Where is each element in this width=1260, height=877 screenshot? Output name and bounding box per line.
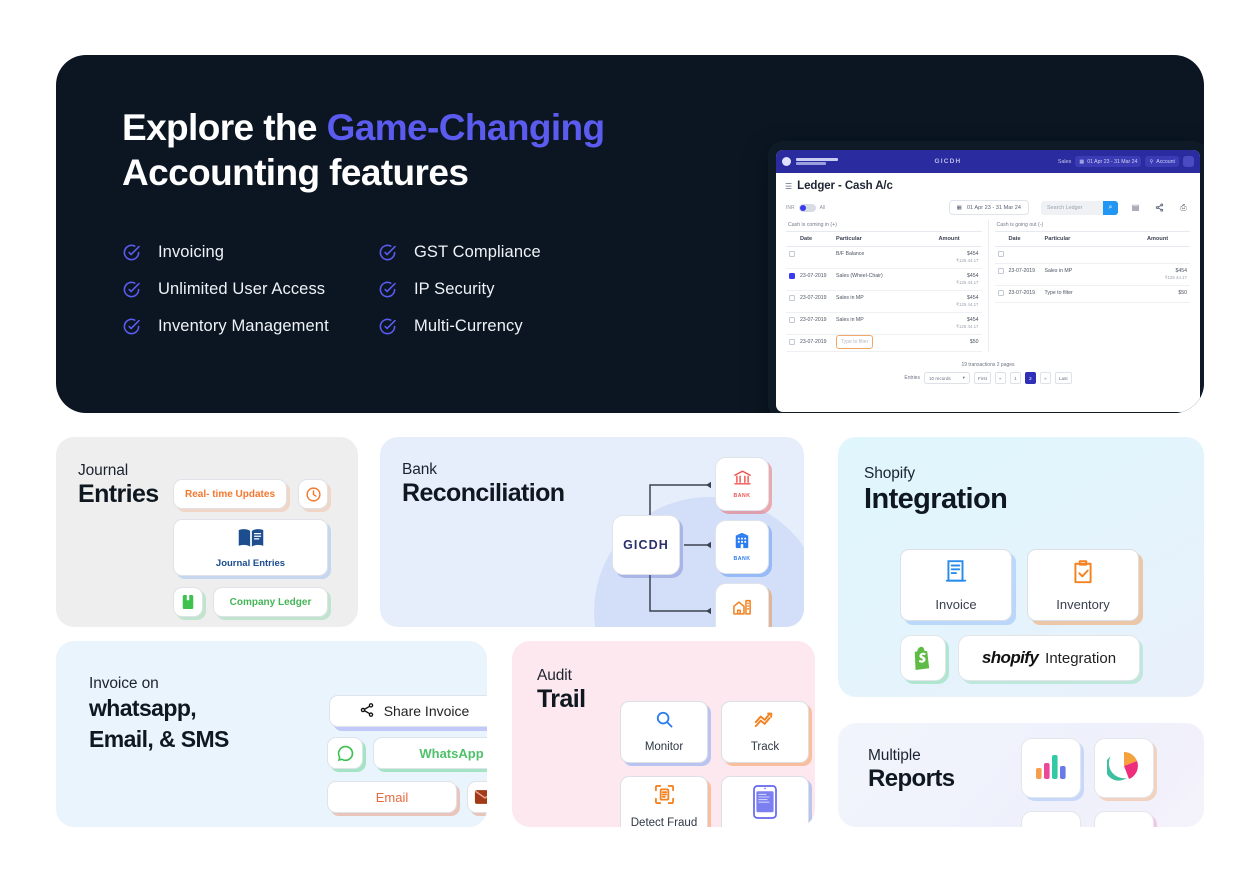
cell-amount: $454₹125 44.17: [936, 269, 982, 291]
navbar-account-text: Account: [1156, 159, 1175, 165]
shopify-title: Integration: [864, 483, 1007, 516]
cell-particular: [1042, 247, 1145, 264]
bank-classic-icon: [733, 469, 752, 491]
table-row[interactable]: 23-07-2019 Sales in MP $454₹125 44.17: [786, 313, 982, 335]
app-navbar: GICDH Sales ▦ 01 Apr 23 - 31 Mar 24 ⚲ Ac…: [776, 150, 1200, 173]
app-logo-icon: [782, 157, 791, 166]
trend-lines-icon: [754, 710, 776, 734]
gicdh-wordmark: GICDH: [623, 538, 669, 552]
feature-item-inventory-management: Inventory Management: [122, 317, 378, 336]
navbar-account-chip[interactable]: ⚲ Account: [1145, 156, 1179, 167]
cash-in-caption: Cash is coming in (+): [786, 220, 982, 231]
bank-node-tag: BANK: [734, 556, 751, 562]
row-checkbox-cell[interactable]: [995, 247, 1006, 264]
toggle-left-label: INR: [786, 205, 795, 211]
row-checkbox-cell[interactable]: [995, 264, 1006, 286]
app-brand: [796, 158, 838, 164]
cell-date: 23-07-2019: [1006, 286, 1042, 303]
navbar-date-chip[interactable]: ▦ 01 Apr 23 - 31 Mar 24: [1075, 156, 1141, 167]
laptop-mockup: GICDH Sales ▦ 01 Apr 23 - 31 Mar 24 ⚲ Ac…: [654, 73, 1204, 413]
select-all-header: [786, 232, 797, 247]
email-button[interactable]: Email: [327, 781, 457, 813]
mobile-tile[interactable]: [721, 776, 809, 827]
whatsapp-label: WhatsApp: [419, 746, 483, 761]
inventory-tile[interactable]: Inventory: [1027, 549, 1139, 621]
row-checkbox-cell[interactable]: [995, 286, 1006, 303]
journal-kicker: Journal: [78, 462, 159, 480]
page-button-1[interactable]: 1: [1010, 372, 1021, 384]
detect-fraud-label: Detect Fraud: [631, 816, 697, 827]
page-button-2-active[interactable]: 2: [1025, 372, 1036, 384]
card-bank-reconciliation: Bank Reconciliation GICDH BANK: [380, 437, 804, 627]
date-range-picker[interactable]: ▦ 01 Apr 23 - 31 Mar 24: [949, 200, 1029, 215]
grid-menu-icon[interactable]: [1183, 156, 1194, 167]
column-header-amount: Amount: [936, 232, 982, 247]
checkbox-icon[interactable]: [998, 251, 1004, 257]
whatsapp-button[interactable]: WhatsApp: [373, 737, 487, 769]
bank-building-icon: [733, 532, 751, 554]
feature-label: Inventory Management: [158, 317, 329, 336]
share-invoice-button[interactable]: Share Invoice: [329, 695, 487, 727]
cash-out-column: Cash is going out (-) Date Particular Am…: [995, 220, 1191, 352]
shopify-tile-row: Invoice Inventory: [900, 549, 1139, 621]
whatsapp-title-line2: Email, & SMS: [89, 724, 229, 755]
audit-text-block: Audit Trail: [537, 667, 585, 714]
table-row[interactable]: [995, 247, 1191, 264]
gicdh-hub-node[interactable]: GICDH: [612, 515, 680, 575]
journal-text-block: Journal Entries: [78, 462, 159, 509]
feature-item-unlimited-user-access: Unlimited User Access: [122, 280, 378, 299]
cash-out-table: Date Particular Amount: [995, 231, 1191, 303]
amount-value: $454: [967, 251, 979, 257]
chevron-down-icon: ▾: [963, 375, 965, 381]
entries-label: Entries: [904, 375, 920, 381]
entries-select[interactable]: 10 records▾: [924, 372, 970, 384]
column-divider: [988, 220, 989, 352]
feature-label: Unlimited User Access: [158, 280, 325, 299]
page-button-last[interactable]: Last: [1055, 372, 1072, 384]
pie-chart-tile[interactable]: [1094, 738, 1154, 798]
shopify-text-block: Shopify Integration: [864, 465, 1007, 516]
mobile-phone-icon: [752, 785, 778, 824]
feature-label: GST Compliance: [414, 243, 541, 262]
checkbox-icon[interactable]: [998, 290, 1004, 296]
checkbox-icon[interactable]: [789, 251, 795, 257]
pagination: 19 transactions 2 pages Entries 10 recor…: [776, 352, 1200, 384]
shopify-wordmark: shopify: [982, 648, 1038, 668]
page-title: Explore the Game-Changing Accounting fea…: [122, 105, 682, 195]
card-shopify-integration: Shopify Integration Invoice Inventory: [838, 437, 1204, 697]
journal-entries-label: Journal Entries: [216, 558, 285, 569]
app-toolbar: INR All ▦ 01 Apr 23 - 31 Mar 24 Search L…: [776, 196, 1200, 220]
hero-title-part2: Accounting features: [122, 152, 468, 193]
check-circle-icon: [122, 243, 141, 262]
page-button-prev[interactable]: «: [995, 372, 1006, 384]
page-root: Explore the Game-Changing Accounting fea…: [0, 0, 1260, 877]
amount-value: $454: [967, 295, 979, 301]
cash-in-table: Date Particular Amount B/F Balance: [786, 231, 982, 352]
check-circle-icon: [378, 317, 397, 336]
cell-particular: Sales in MP: [833, 313, 936, 335]
cell-date: 23-07-2019: [797, 313, 833, 335]
cell-particular: Sales in MP: [1042, 264, 1145, 286]
check-circle-icon: [378, 243, 397, 262]
whatsapp-text-block: Invoice on whatsapp, Email, & SMS: [89, 675, 229, 754]
cell-date: 23-07-2019: [797, 291, 833, 313]
cell-date: [797, 247, 833, 269]
cell-amount: $50: [1144, 286, 1190, 303]
bank-title: Reconciliation: [402, 479, 564, 508]
feature-item-gst-compliance: GST Compliance: [378, 243, 682, 262]
checkbox-icon[interactable]: [789, 339, 795, 345]
cell-particular: B/F Balance: [833, 247, 936, 269]
realtime-updates-pill[interactable]: Real- time Updates: [173, 479, 287, 509]
check-circle-icon: [122, 317, 141, 336]
share-icon[interactable]: [1153, 201, 1166, 214]
monitor-tile[interactable]: Monitor: [620, 701, 708, 763]
share-icon: [359, 702, 375, 721]
ledger-columns: Cash is coming in (+) Date Particular Am…: [776, 220, 1200, 352]
table-row-editing[interactable]: 23-07-2019 Type to filter $50: [786, 335, 982, 352]
ledger-search[interactable]: Search Ledger ⌕: [1041, 201, 1118, 215]
table-row[interactable]: 23-07-2019 Sales in MP $454₹125 44.17: [995, 264, 1191, 286]
app-page-header: ☰ Ledger - Cash A/c: [776, 173, 1200, 196]
currency-toggle[interactable]: INR All: [786, 204, 825, 212]
table-header-row: Date Particular Amount: [786, 232, 982, 247]
column-header-particular: Particular: [1042, 232, 1145, 247]
shopify-integration-bar[interactable]: shopify Integration: [958, 635, 1140, 681]
select-all-header: [995, 232, 1006, 247]
app-page-title: Ledger - Cash A/c: [797, 180, 893, 192]
bar-chart-icon: [1034, 751, 1068, 786]
amount-value: $454: [967, 273, 979, 279]
row-checkbox-cell[interactable]: [786, 291, 797, 313]
hero-feature-list: Invoicing GST Compliance Unlimited User …: [122, 243, 682, 336]
save-icon[interactable]: ▤: [1129, 201, 1142, 214]
company-ledger-label: Company Ledger: [230, 597, 312, 608]
cell-particular: Sales in MP: [833, 291, 936, 313]
cell-date: 23-07-2019: [1006, 264, 1042, 286]
column-header-particular: Particular: [833, 232, 936, 247]
search-input[interactable]: Search Ledger: [1041, 201, 1103, 215]
detect-fraud-tile[interactable]: Detect Fraud: [620, 776, 708, 827]
whatsapp-kicker: Invoice on: [89, 675, 229, 693]
card-journal-entries: Journal Entries Real- time Updates Journ…: [56, 437, 358, 627]
amount-value: $454: [1175, 268, 1187, 274]
cell-amount: [1144, 247, 1190, 264]
column-header-amount: Amount: [1144, 232, 1190, 247]
amount-sub: ₹125 44.17: [1147, 275, 1187, 281]
cell-amount: $50: [936, 335, 982, 352]
share-invoice-label: Share Invoice: [384, 703, 470, 719]
table-row[interactable]: 23-07-2019 Sales in MP $454₹125 44.17: [786, 291, 982, 313]
table-row[interactable]: 23-07-2019 Sales (Wheel-Chair) $454₹125 …: [786, 269, 982, 291]
book-icon[interactable]: [173, 587, 203, 617]
reports-text-block: Multiple Reports: [868, 747, 954, 792]
reports-tile-row-2: [1021, 811, 1154, 827]
feature-label: Multi-Currency: [414, 317, 523, 336]
audit-title: Trail: [537, 685, 585, 714]
navbar-sales-label[interactable]: Sales: [1058, 159, 1072, 165]
date-range-text: 01 Apr 23 - 31 Mar 24: [967, 205, 1021, 211]
checkbox-icon-checked[interactable]: [789, 273, 795, 279]
realtime-updates-label: Real- time Updates: [185, 489, 275, 500]
cell-particular: Sales (Wheel-Chair): [833, 269, 936, 291]
audit-tile-grid: Monitor Track Detect Fraud: [620, 701, 809, 827]
cell-date: [1006, 247, 1042, 264]
open-book-icon: [237, 527, 265, 554]
column-header-date: Date: [797, 232, 833, 247]
bank-node-tag: BANK: [734, 493, 751, 499]
toggle-right-label: All: [820, 205, 826, 211]
navbar-date-text: 01 Apr 23 - 31 Mar 24: [1087, 159, 1137, 165]
reports-tile-row: [1021, 738, 1154, 798]
particular-filter-input[interactable]: Type to filter: [836, 335, 873, 349]
column-header-date: Date: [1006, 232, 1042, 247]
shopify-kicker: Shopify: [864, 465, 1007, 483]
bar-chart-tile[interactable]: [1021, 738, 1081, 798]
checkbox-icon[interactable]: [789, 295, 795, 301]
page-button-first[interactable]: First: [974, 372, 991, 384]
inventory-label: Inventory: [1056, 597, 1109, 612]
card-multiple-reports: Multiple Reports: [838, 723, 1204, 827]
page-button-next[interactable]: »: [1040, 372, 1051, 384]
bank-diagram: GICDH BANK BANK: [610, 455, 804, 627]
feature-label: Invoicing: [158, 243, 224, 262]
feature-item-ip-security: IP Security: [378, 280, 682, 299]
invoice-icon: [944, 559, 968, 590]
invoice-tile[interactable]: Invoice: [900, 549, 1012, 621]
invoice-label: Invoice: [935, 597, 976, 612]
cell-date: 23-07-2019: [797, 335, 833, 352]
cell-particular: Type to filter: [1042, 286, 1145, 303]
audit-kicker: Audit: [537, 667, 585, 685]
card-invoice-channels: Invoice on whatsapp, Email, & SMS Share …: [56, 641, 487, 827]
calendar-icon: ▦: [1079, 159, 1084, 165]
amount-sub: ₹125 44.17: [939, 280, 979, 286]
shopify-bag-icon[interactable]: [900, 635, 946, 681]
table-row[interactable]: B/F Balance $454₹125 44.17: [786, 247, 982, 269]
amount-sub: ₹125 44.17: [939, 324, 979, 330]
monitor-label: Monitor: [645, 740, 683, 754]
cash-out-caption: Cash is going out (-): [995, 220, 1191, 231]
table-row[interactable]: 23-07-2019 Type to filter $50: [995, 286, 1191, 303]
report-tile-3[interactable]: [1021, 811, 1081, 827]
amount-sub: ₹125 44.17: [939, 302, 979, 308]
check-circle-icon: [122, 280, 141, 299]
row-checkbox-cell[interactable]: [786, 313, 797, 335]
hero-title-part1: Explore the: [122, 107, 327, 148]
row-checkbox-cell[interactable]: [786, 247, 797, 269]
pie-chart-icon: [1107, 750, 1141, 787]
email-label: Email: [376, 790, 409, 805]
whatsapp-icon[interactable]: [327, 737, 363, 769]
reports-kicker: Multiple: [868, 747, 954, 765]
cell-amount: $454₹125 44.17: [936, 291, 982, 313]
bank-kicker: Bank: [402, 461, 564, 479]
email-row: Email: [327, 781, 487, 813]
pagination-controls: Entries 10 records▾ First « 1 2 » Last: [776, 372, 1200, 384]
journal-title: Entries: [78, 480, 159, 509]
amount-sub: ₹125 44.17: [939, 258, 979, 264]
bank-node-1[interactable]: BANK: [715, 457, 769, 511]
shopify-integration-label: Integration: [1045, 650, 1116, 667]
bank-node-3[interactable]: [715, 583, 769, 627]
pagination-caption: 19 transactions 2 pages: [776, 362, 1200, 368]
report-tile-4[interactable]: [1094, 811, 1154, 827]
track-tile[interactable]: Track: [721, 701, 809, 763]
table-header-row: Date Particular Amount: [995, 232, 1191, 247]
company-ledger-button[interactable]: Company Ledger: [213, 587, 328, 617]
scan-doc-icon: [654, 784, 675, 810]
row-checkbox-cell[interactable]: [786, 335, 797, 352]
magnifier-icon: [655, 710, 674, 734]
check-circle-icon: [378, 280, 397, 299]
feature-label: IP Security: [414, 280, 495, 299]
hero-banner: Explore the Game-Changing Accounting fea…: [56, 55, 1204, 413]
entries-value: 10 records: [929, 376, 951, 381]
checkbox-icon[interactable]: [789, 317, 795, 323]
search-icon[interactable]: ⌕: [1103, 201, 1118, 215]
hero-text-block: Explore the Game-Changing Accounting fea…: [122, 105, 682, 336]
user-icon: ⚲: [1149, 159, 1153, 165]
reports-title: Reports: [868, 765, 954, 792]
navbar-right-group: Sales ▦ 01 Apr 23 - 31 Mar 24 ⚲ Account: [1058, 156, 1194, 167]
toggle-switch[interactable]: [799, 204, 816, 212]
navbar-center-logo: GICDH: [843, 158, 1053, 165]
cell-amount: $454₹125 44.17: [936, 313, 982, 335]
feature-item-multi-currency: Multi-Currency: [378, 317, 682, 336]
clipboard-check-icon: [1071, 559, 1095, 590]
cell-date: 23-07-2019: [797, 269, 833, 291]
cash-in-column: Cash is coming in (+) Date Particular Am…: [786, 220, 982, 352]
whatsapp-title-line1: whatsapp,: [89, 693, 229, 724]
cell-amount: $454₹125 44.17: [936, 247, 982, 269]
print-icon[interactable]: ⎙: [1177, 201, 1190, 214]
amount-value: $454: [967, 317, 979, 323]
cell-particular-input[interactable]: Type to filter: [833, 335, 936, 352]
laptop-lid: GICDH Sales ▦ 01 Apr 23 - 31 Mar 24 ⚲ Ac…: [768, 141, 1204, 413]
whatsapp-row: WhatsApp: [327, 737, 487, 769]
card-audit-trail: Audit Trail Monitor Track Detect Fraud: [512, 641, 815, 827]
journal-entries-tile[interactable]: Journal Entries: [173, 519, 328, 576]
hero-title-accent: Game-Changing: [327, 107, 605, 148]
bank-node-2[interactable]: BANK: [715, 520, 769, 574]
shopify-integration-row: shopify Integration: [900, 635, 1140, 681]
envelope-icon[interactable]: [467, 781, 487, 813]
hamburger-icon[interactable]: ☰: [785, 182, 792, 191]
calendar-icon: ▦: [957, 205, 962, 211]
feature-item-invoicing: Invoicing: [122, 243, 378, 262]
row-checkbox-cell[interactable]: [786, 269, 797, 291]
checkbox-icon[interactable]: [998, 268, 1004, 274]
cell-amount: $454₹125 44.17: [1144, 264, 1190, 286]
clock-icon[interactable]: [298, 479, 328, 509]
bank-text-block: Bank Reconciliation: [402, 461, 564, 508]
laptop-screen: GICDH Sales ▦ 01 Apr 23 - 31 Mar 24 ⚲ Ac…: [776, 150, 1200, 412]
bank-home-icon: [732, 598, 752, 621]
track-label: Track: [751, 740, 779, 754]
